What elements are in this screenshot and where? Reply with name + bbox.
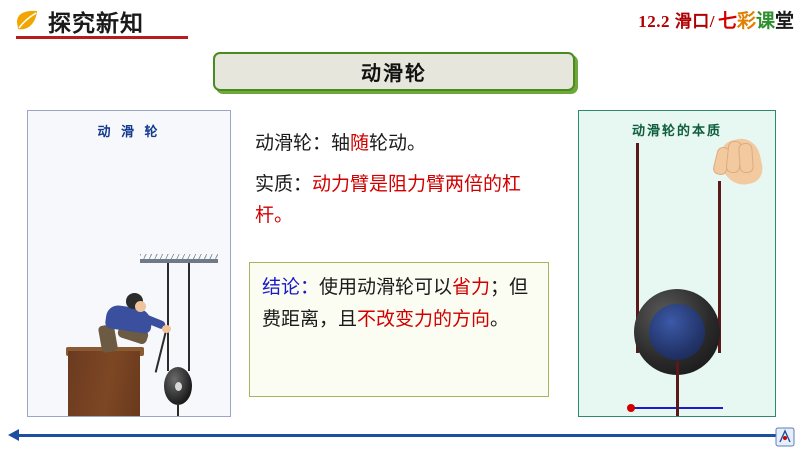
fulcrum-point	[627, 404, 635, 412]
rope-left-segment	[167, 263, 169, 371]
essence-label: 实质：	[255, 173, 312, 195]
corner-logo-icon	[774, 426, 796, 448]
rope-to-weight	[676, 361, 679, 417]
definition-prefix: 动滑轮：轴	[255, 132, 350, 154]
bottom-divider	[18, 434, 778, 437]
conclusion-text: 结论：使用动滑轮可以省力；但费距离，且不改变力的方向。	[262, 271, 538, 335]
rope-right-segment	[188, 263, 190, 371]
lesson-code: 12.2 滑口/	[638, 7, 715, 32]
section-title-banner: 动滑轮	[213, 52, 575, 91]
section-title-text: 动滑轮	[361, 57, 427, 86]
essence-line: 实质：动力臂是阻力臂两倍的杠杆。	[255, 169, 545, 231]
brand-char-4: 堂	[775, 10, 794, 32]
brand-char-2: 彩	[737, 10, 756, 32]
leaf-icon	[14, 8, 40, 34]
middle-text-block: 动滑轮：轴随轮动。 实质：动力臂是阻力臂两倍的杠杆。	[255, 128, 545, 231]
header-right-branding: 12.2 滑口/ 七彩课堂	[638, 6, 794, 33]
left-illustration-card: 动 滑 轮	[27, 110, 231, 417]
finger-3	[738, 143, 754, 174]
brand-logo: 七彩课堂	[718, 6, 794, 33]
conclusion-label: 结论：	[262, 276, 319, 298]
left-card-title: 动 滑 轮	[28, 121, 230, 140]
header-underline	[16, 36, 188, 39]
conclusion-part4: 不改变力的方向	[357, 308, 490, 330]
slide-root: 探究新知 12.2 滑口/ 七彩课堂 动滑轮 动 滑 轮	[0, 0, 800, 450]
conclusion-part2: 省力	[452, 276, 490, 298]
definition-line: 动滑轮：轴随轮动。	[255, 128, 545, 159]
man-hand	[162, 325, 171, 333]
pulley-hub	[175, 382, 182, 391]
header: 探究新知	[14, 4, 144, 38]
right-illustration-card: 动滑轮的本质	[578, 110, 776, 417]
definition-highlight: 随	[350, 132, 369, 154]
rope-to-load	[177, 403, 179, 417]
definition-suffix: 轮动。	[369, 132, 426, 154]
right-card-title: 动滑轮的本质	[579, 120, 775, 139]
man-face	[135, 301, 146, 312]
conclusion-box: 结论：使用动滑轮可以省力；但费距离，且不改变力的方向。	[249, 262, 549, 397]
cliff-body	[68, 351, 140, 417]
brand-char-1: 七	[718, 10, 737, 32]
rope-to-hand	[155, 329, 168, 372]
page-title: 探究新知	[48, 4, 144, 38]
conclusion-part5: 。	[490, 308, 509, 330]
pulley-inner-disc	[649, 304, 705, 360]
brand-char-3: 课	[756, 10, 775, 32]
ceiling-beam	[140, 259, 218, 263]
conclusion-part1: 使用动滑轮可以	[319, 276, 452, 298]
